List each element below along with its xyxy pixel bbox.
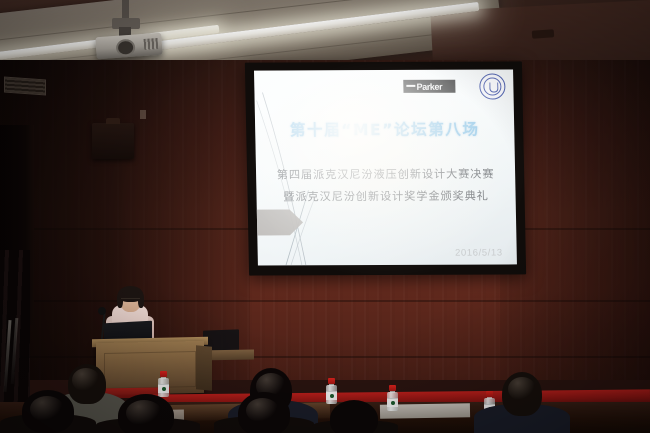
presenter-glasses bbox=[121, 298, 140, 304]
podium-side bbox=[196, 345, 212, 390]
water-bottle bbox=[326, 378, 337, 404]
air-vent-icon bbox=[4, 77, 46, 96]
ceiling-vent bbox=[532, 29, 555, 39]
wall-switch bbox=[140, 110, 146, 119]
slide-subtitle-line1: 第四届派克汉尼汾液压创新设计大赛决赛 bbox=[262, 165, 509, 182]
audience-head bbox=[330, 400, 378, 433]
projection-screen: Parker 第十届“ME”论坛第八场 第四届派克汉尼汾液压创新设计大赛决赛 暨… bbox=[245, 61, 526, 275]
auditorium-photo: Parker 第十届“ME”论坛第八场 第四届派克汉尼汾液压创新设计大赛决赛 暨… bbox=[0, 0, 650, 433]
projector-lens bbox=[116, 39, 136, 57]
slide-date: 2016/5/13 bbox=[455, 247, 503, 258]
water-bottle bbox=[387, 385, 398, 411]
podium-panel bbox=[104, 351, 196, 389]
slide-surface: Parker 第十届“ME”论坛第八场 第四届派克汉尼汾液压创新设计大赛决赛 暨… bbox=[254, 69, 517, 265]
microphone-icon bbox=[98, 307, 106, 315]
slide-arrow-shape bbox=[255, 209, 304, 235]
slide-title: 第十届“ME”论坛第八场 bbox=[255, 117, 514, 140]
projector-icon bbox=[95, 33, 162, 60]
slide-subtitle-line2: 暨派克汉尼汾创新设计奖学金颁奖典礼 bbox=[262, 187, 509, 204]
parker-logo-text: Parker bbox=[416, 81, 442, 91]
wall-speaker-icon bbox=[92, 123, 134, 159]
water-bottle bbox=[158, 371, 169, 397]
parker-logo: Parker bbox=[403, 80, 455, 93]
university-seal-icon bbox=[479, 73, 506, 99]
projector-vent bbox=[144, 38, 159, 50]
